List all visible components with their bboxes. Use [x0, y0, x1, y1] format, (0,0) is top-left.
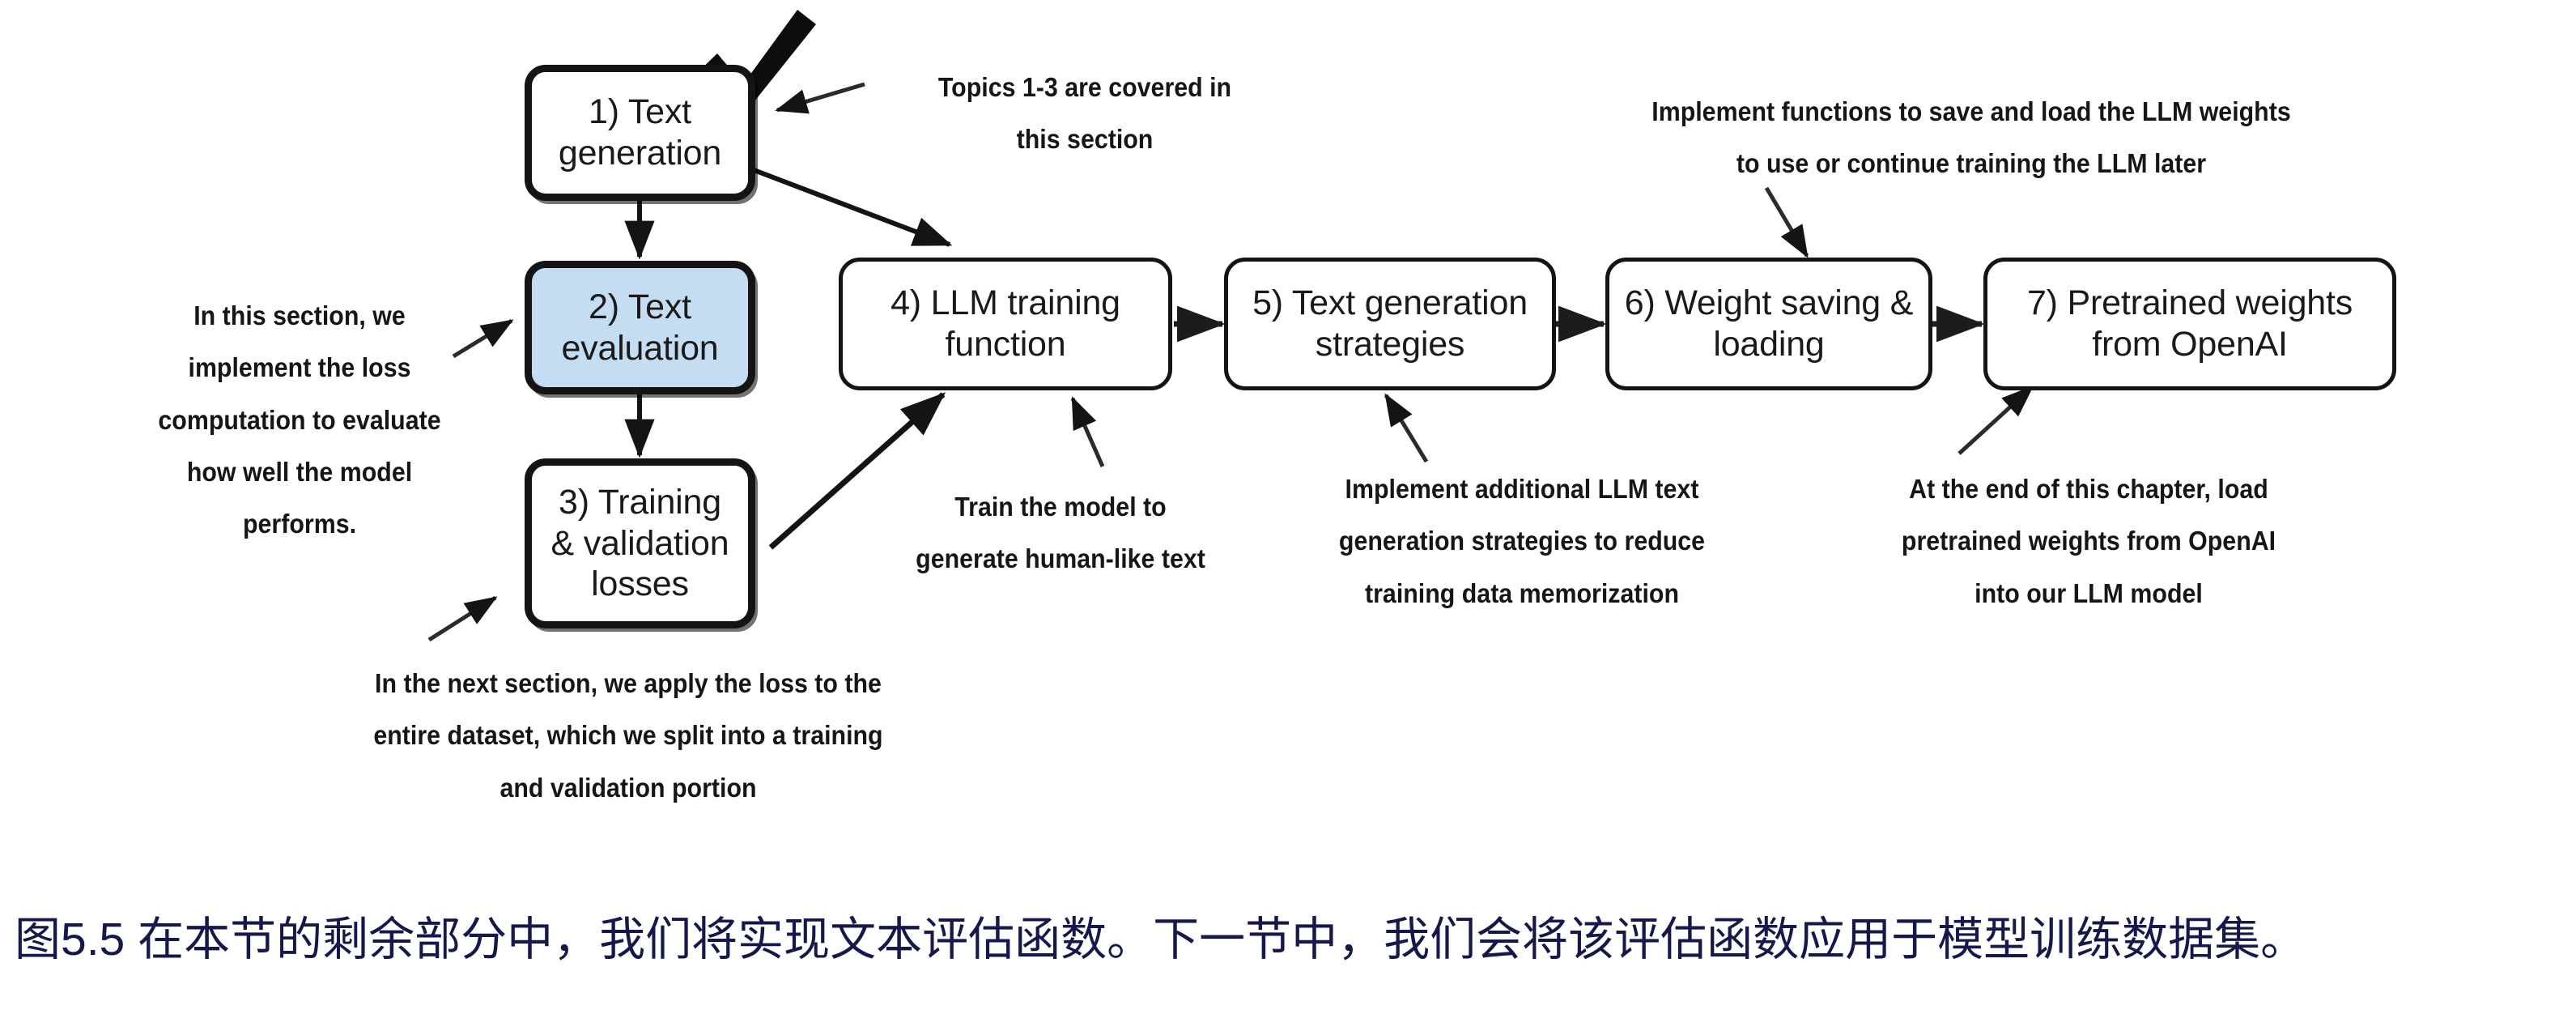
- node-pretrained-weights-openai[interactable]: 7) Pretrained weights from OpenAI: [1983, 258, 2396, 390]
- node-llm-training-function[interactable]: 4) LLM training function: [839, 258, 1172, 390]
- leader-a6: [1766, 188, 1807, 256]
- annotation-next-section-dataset: In the next section, we apply the loss t…: [316, 658, 942, 814]
- annotation-loss-implementation: In this section, we implement the loss c…: [128, 290, 470, 551]
- annotation-load-pretrained: At the end of this chapter, load pretrai…: [1872, 463, 2305, 620]
- edge-n1-n4: [733, 162, 950, 245]
- node-training-validation-losses[interactable]: 3) Training & validation losses: [525, 458, 755, 628]
- node-text-generation[interactable]: 1) Text generation: [525, 65, 755, 201]
- annotation-save-load-weights: Implement functions to save and load the…: [1595, 86, 2347, 190]
- node-text-generation-strategies[interactable]: 5) Text generation strategies: [1224, 258, 1556, 390]
- leader-a1: [777, 84, 865, 110]
- annotation-generation-strategies: Implement additional LLM text generation…: [1306, 463, 1738, 620]
- leader-a5: [1386, 395, 1426, 462]
- leader-a3: [429, 598, 495, 640]
- figure-caption: 图5.5 在本节的剩余部分中，我们将实现文本评估函数。下一节中，我们会将该评估函…: [15, 914, 2573, 967]
- node-text-evaluation[interactable]: 2) Text evaluation: [525, 261, 755, 394]
- leader-a7: [1959, 387, 2032, 454]
- leader-a4: [1073, 398, 1103, 467]
- annotation-topics-covered: Topics 1-3 are covered in this section: [891, 62, 1278, 166]
- node-weight-saving-loading[interactable]: 6) Weight saving & loading: [1605, 258, 1932, 390]
- annotation-train-model: Train the model to generate human-like t…: [889, 481, 1231, 586]
- figure-canvas: 1) Text generation 2) Text evaluation 3)…: [0, 0, 2576, 1014]
